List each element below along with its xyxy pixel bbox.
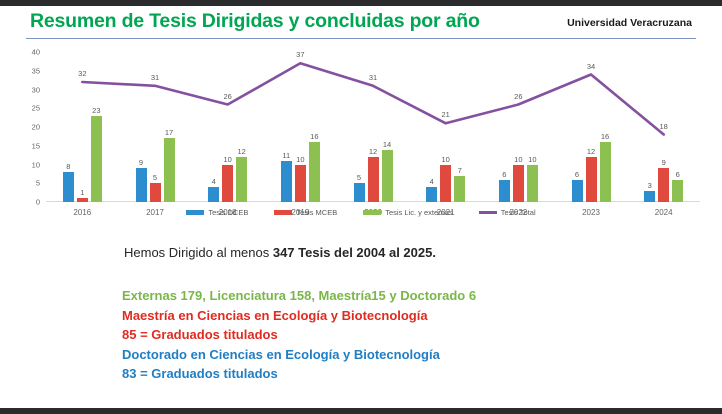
bar-tesis-dceb-2019 — [281, 161, 292, 202]
bar-value-label: 12 — [587, 147, 595, 156]
page-title: Resumen de Tesis Dirigidas y concluidas … — [30, 10, 480, 33]
legend-item-tesis-lic-y-externas[interactable]: Tesis Lic. y externas — [363, 208, 453, 217]
bar-value-label: 9 — [662, 158, 666, 167]
bar-tesis-mceb-2018 — [222, 165, 233, 203]
bar-tesis-mceb-2022 — [513, 165, 524, 203]
bar-tesis-dceb-2017 — [136, 168, 147, 202]
chart-legend: Tesis DCEBTesis MCEBTesis Lic. y externa… — [0, 208, 722, 217]
bar-tesis-mceb-2023 — [586, 157, 597, 202]
legend-label: Tesis DCEB — [208, 208, 248, 217]
detail-line-2: Maestría en Ciencias en Ecología y Biote… — [122, 306, 662, 326]
y-axis-tick: 30 — [32, 85, 40, 94]
bar-value-label: 1 — [80, 188, 84, 197]
bar-value-label: 5 — [357, 173, 361, 182]
y-axis-tick: 15 — [32, 141, 40, 150]
bar-tesis-lic-y-externas-2016 — [91, 116, 102, 202]
y-axis-tick: 25 — [32, 104, 40, 113]
y-axis-tick: 35 — [32, 66, 40, 75]
summary-text-bold: 347 Tesis del 2004 al 2025. — [273, 245, 436, 260]
legend-item-tesis-total[interactable]: Tesis Total — [479, 208, 536, 217]
line-value-label: 34 — [587, 62, 595, 71]
detail-line-5: 83 = Graduados titulados — [122, 364, 662, 384]
bar-value-label: 16 — [310, 132, 318, 141]
bar-value-label: 17 — [165, 128, 173, 137]
legend-swatch-icon — [479, 211, 497, 214]
bar-value-label: 5 — [153, 173, 157, 182]
legend-swatch-icon — [363, 210, 381, 215]
thesis-chart: 0510152025303540 81232016951720174101220… — [14, 48, 708, 234]
legend-item-tesis-dceb[interactable]: Tesis DCEB — [186, 208, 248, 217]
y-axis-tick: 40 — [32, 48, 40, 57]
y-axis-tick: 10 — [32, 160, 40, 169]
bar-tesis-lic-y-externas-2022 — [527, 165, 538, 203]
summary-text: Hemos Dirigido al menos 347 Tesis del 20… — [124, 245, 436, 260]
detail-text-block: Externas 179, Licenciatura 158, Maestría… — [122, 286, 662, 384]
slide-root: Resumen de Tesis Dirigidas y concluidas … — [0, 0, 722, 414]
bar-tesis-dceb-2020 — [354, 183, 365, 202]
bar-value-label: 3 — [648, 181, 652, 190]
bar-value-label: 12 — [369, 147, 377, 156]
bar-tesis-lic-y-externas-2023 — [600, 142, 611, 202]
y-axis: 0510152025303540 — [14, 52, 44, 202]
y-axis-tick: 0 — [36, 198, 40, 207]
bar-tesis-mceb-2017 — [150, 183, 161, 202]
bottom-letterbox-bar — [0, 408, 722, 414]
legend-label: Tesis Total — [501, 208, 536, 217]
plot-area: 8123201695172017410122018111016201951214… — [46, 52, 700, 202]
y-axis-tick: 5 — [36, 179, 40, 188]
bar-value-label: 10 — [296, 155, 304, 164]
bar-tesis-dceb-2024 — [644, 191, 655, 202]
legend-swatch-icon — [274, 210, 292, 215]
legend-swatch-icon — [186, 210, 204, 215]
legend-item-tesis-mceb[interactable]: Tesis MCEB — [274, 208, 337, 217]
bar-tesis-mceb-2020 — [368, 157, 379, 202]
organization-name: Universidad Veracruzana — [567, 17, 692, 29]
detail-line-1: Externas 179, Licenciatura 158, Maestría… — [122, 286, 662, 306]
slide-header: Resumen de Tesis Dirigidas y concluidas … — [0, 6, 722, 40]
line-value-label: 26 — [223, 92, 231, 101]
bar-value-label: 4 — [212, 177, 216, 186]
line-value-label: 18 — [659, 122, 667, 131]
detail-line-4: Doctorado en Ciencias en Ecología y Biot… — [122, 345, 662, 365]
bar-tesis-dceb-2022 — [499, 180, 510, 203]
bar-value-label: 11 — [282, 151, 290, 160]
bar-tesis-mceb-2016 — [77, 198, 88, 202]
bar-tesis-lic-y-externas-2021 — [454, 176, 465, 202]
bar-tesis-lic-y-externas-2024 — [672, 180, 683, 203]
summary-text-plain: Hemos Dirigido al menos — [124, 245, 273, 260]
bar-value-label: 6 — [575, 170, 579, 179]
line-value-label: 32 — [78, 69, 86, 78]
legend-label: Tesis MCEB — [296, 208, 337, 217]
bar-tesis-lic-y-externas-2017 — [164, 138, 175, 202]
bar-tesis-mceb-2021 — [440, 165, 451, 203]
bar-value-label: 6 — [502, 170, 506, 179]
bar-value-label: 8 — [66, 162, 70, 171]
bar-value-label: 10 — [223, 155, 231, 164]
bar-tesis-lic-y-externas-2018 — [236, 157, 247, 202]
line-value-label: 37 — [296, 50, 304, 59]
line-value-label: 26 — [514, 92, 522, 101]
bar-value-label: 10 — [528, 155, 536, 164]
line-value-label: 21 — [441, 110, 449, 119]
bar-value-label: 12 — [237, 147, 245, 156]
bar-value-label: 14 — [383, 140, 391, 149]
line-value-label: 31 — [369, 73, 377, 82]
line-value-label: 31 — [151, 73, 159, 82]
bar-tesis-lic-y-externas-2020 — [382, 150, 393, 203]
bar-value-label: 10 — [441, 155, 449, 164]
title-divider — [26, 38, 696, 39]
bar-value-label: 9 — [139, 158, 143, 167]
bar-value-label: 16 — [601, 132, 609, 141]
bar-tesis-dceb-2023 — [572, 180, 583, 203]
bar-value-label: 6 — [676, 170, 680, 179]
bar-value-label: 4 — [430, 177, 434, 186]
bar-tesis-mceb-2024 — [658, 168, 669, 202]
detail-line-3: 85 = Graduados titulados — [122, 325, 662, 345]
bar-value-label: 23 — [92, 106, 100, 115]
bar-tesis-mceb-2019 — [295, 165, 306, 203]
y-axis-tick: 20 — [32, 123, 40, 132]
bar-tesis-dceb-2016 — [63, 172, 74, 202]
bar-value-label: 10 — [514, 155, 522, 164]
legend-label: Tesis Lic. y externas — [385, 208, 453, 217]
bar-tesis-dceb-2018 — [208, 187, 219, 202]
bar-tesis-lic-y-externas-2019 — [309, 142, 320, 202]
bar-tesis-dceb-2021 — [426, 187, 437, 202]
bar-value-label: 7 — [458, 166, 462, 175]
